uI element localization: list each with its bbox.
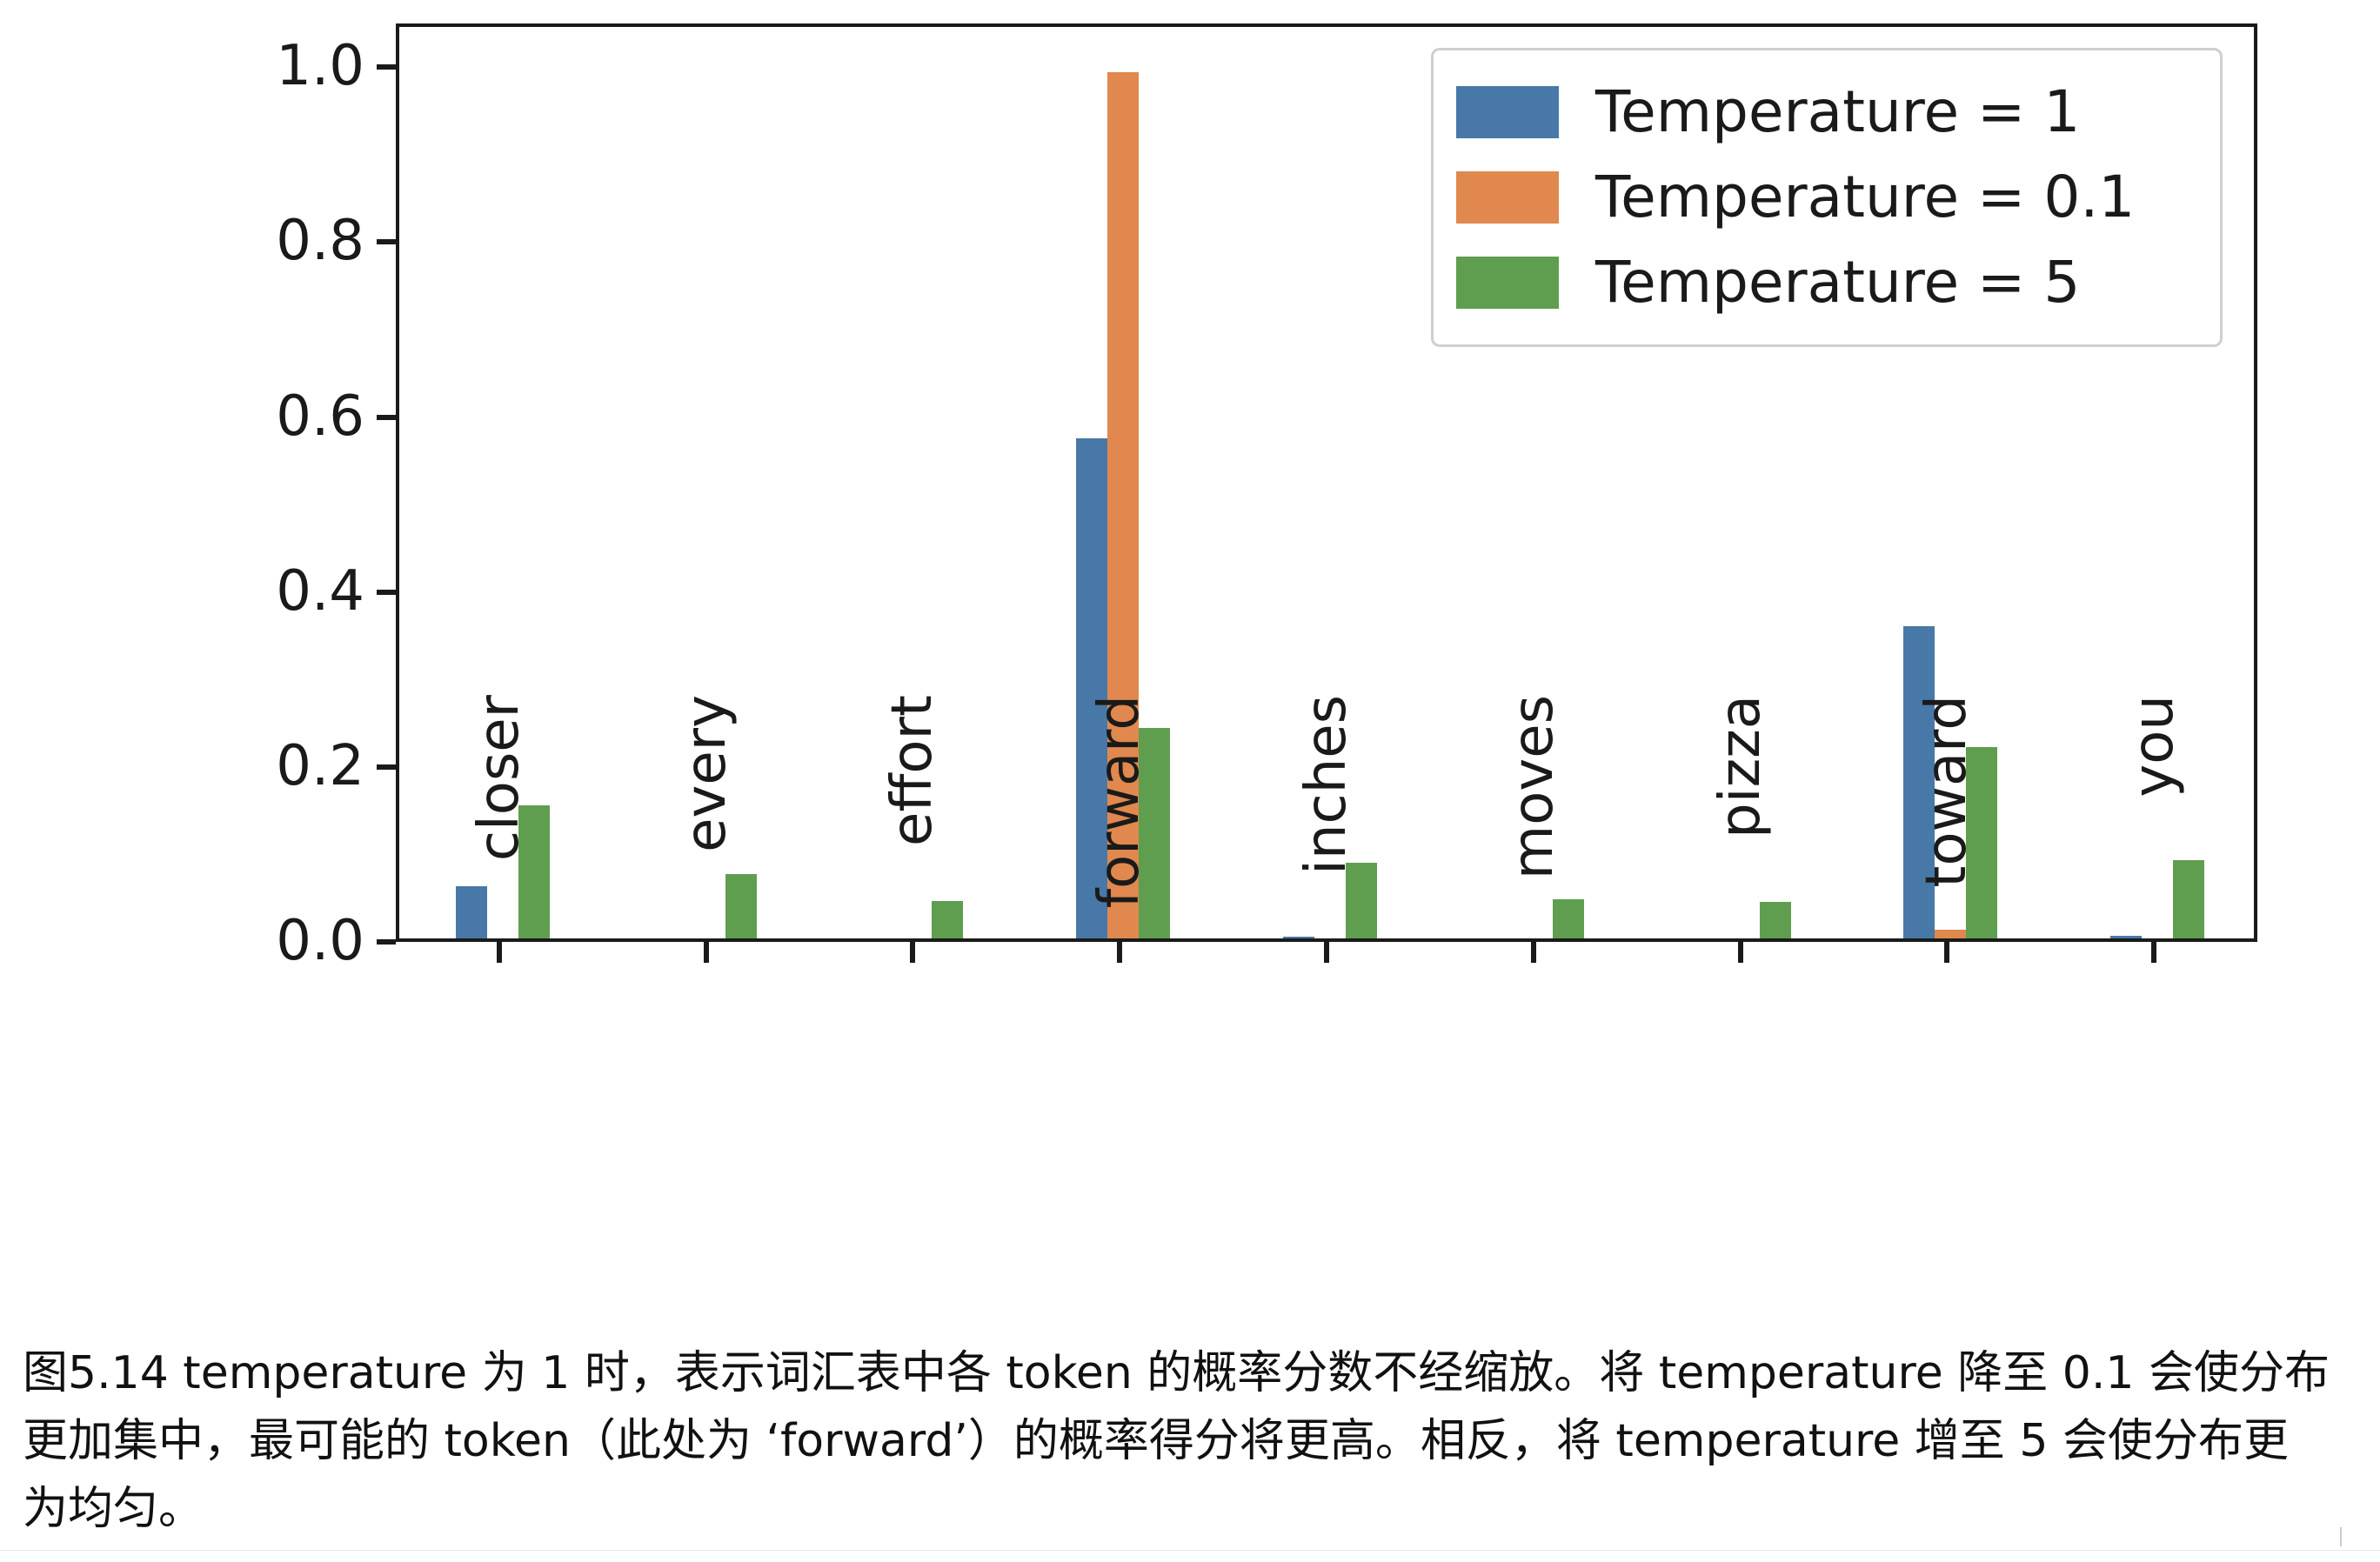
legend-label: Temperature = 1 <box>1595 83 2080 141</box>
x-tick-label: every <box>679 695 734 973</box>
x-tick-label: moves <box>1506 695 1561 973</box>
y-tick-label: 0.8 <box>276 209 364 273</box>
x-tick-label: you <box>2126 695 2182 973</box>
figure-caption: 图5.14 temperature 为 1 时，表示词汇表中各 token 的概… <box>23 1339 2363 1543</box>
x-tick-label: forward <box>1092 695 1147 973</box>
legend-item: Temperature = 1 <box>1456 70 2197 155</box>
legend-label: Temperature = 5 <box>1595 254 2080 311</box>
page-divider <box>0 1550 2380 1551</box>
y-tick-label: 0.0 <box>276 909 364 973</box>
figure-container: Probability 1.00.80.60.40.20.0 closereve… <box>0 0 2380 1270</box>
y-tick-mark <box>377 64 396 70</box>
legend: Temperature = 1Temperature = 0.1Temperat… <box>1431 48 2223 347</box>
y-tick-mark <box>377 239 396 244</box>
y-tick-mark <box>377 939 396 945</box>
x-tick-label: effort <box>885 695 940 973</box>
legend-item: Temperature = 5 <box>1456 240 2197 325</box>
x-tick-label: pizza <box>1713 695 1768 973</box>
x-tick-label: closer <box>471 695 527 973</box>
caption-line-2: 更加集中，最可能的 token（此处为 ‘forward’）的概率得分将更高。相… <box>23 1407 2363 1475</box>
legend-item: Temperature = 0.1 <box>1456 155 2197 240</box>
caption-line-3: 为均匀。 <box>23 1475 2363 1543</box>
y-tick-mark <box>377 415 396 420</box>
x-axis-ticks: closereveryeffortforwardinchesmovespizza… <box>396 942 2257 1272</box>
legend-swatch <box>1456 257 1559 309</box>
legend-swatch <box>1456 86 1559 138</box>
caption-line-1: 图5.14 temperature 为 1 时，表示词汇表中各 token 的概… <box>23 1339 2363 1407</box>
y-tick-label: 0.4 <box>276 559 364 624</box>
y-tick-mark <box>377 590 396 595</box>
x-tick-label: toward <box>1919 695 1975 973</box>
y-axis-label: Probability <box>104 0 174 93</box>
legend-swatch <box>1456 171 1559 224</box>
y-tick-label: 0.2 <box>276 734 364 798</box>
y-tick-mark <box>377 764 396 770</box>
y-tick-label: 0.6 <box>276 384 364 449</box>
y-tick-label: 1.0 <box>276 34 364 98</box>
page-edge-mark <box>2340 1527 2342 1546</box>
legend-label: Temperature = 0.1 <box>1595 169 2135 226</box>
x-tick-label: inches <box>1299 695 1354 973</box>
